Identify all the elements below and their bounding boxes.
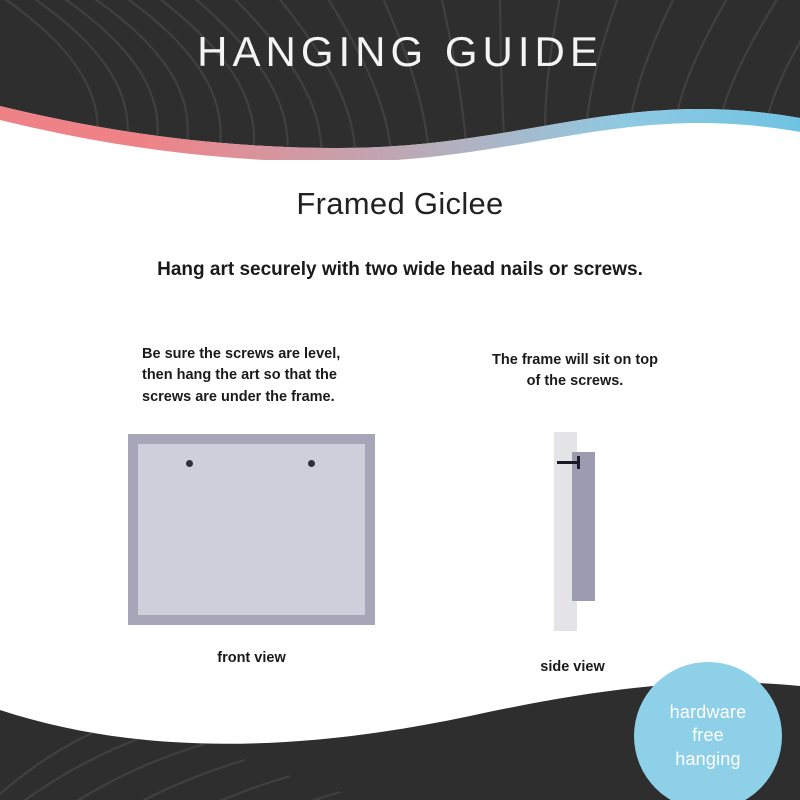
- instruction-subtitle: Hang art securely with two wide head nai…: [0, 259, 800, 281]
- side-view-frame: [572, 452, 595, 601]
- side-caption-line-1: The frame will sit on top: [450, 350, 700, 371]
- front-caption-line-3: screws are under the frame.: [142, 387, 388, 408]
- front-view-mat: [138, 444, 365, 615]
- front-view-column: Be sure the screws are level, then hang …: [120, 344, 388, 408]
- front-view-caption: Be sure the screws are level, then hang …: [120, 344, 388, 408]
- side-view-column: The frame will sit on top of the screws.: [450, 350, 700, 393]
- front-caption-line-1: Be sure the screws are level,: [142, 344, 388, 365]
- page-title: HANGING GUIDE: [0, 28, 800, 76]
- header-background-graphic: [0, 0, 800, 160]
- front-view-label: front view: [128, 650, 375, 666]
- front-view-frame-diagram: [128, 434, 375, 625]
- badge-line-3: hanging: [675, 748, 740, 771]
- hardware-free-hanging-badge: hardware free hanging: [634, 662, 782, 800]
- product-title: Framed Giclee: [0, 186, 800, 222]
- screw-dot-left-icon: [186, 460, 193, 467]
- badge-line-1: hardware: [670, 701, 747, 724]
- side-view-caption: The frame will sit on top of the screws.: [450, 350, 700, 393]
- screw-dot-right-icon: [308, 460, 315, 467]
- screw-head-icon: [577, 456, 580, 469]
- header-banner: HANGING GUIDE: [0, 0, 800, 160]
- badge-line-2: free: [692, 724, 724, 747]
- front-caption-line-2: then hang the art so that the: [142, 365, 388, 386]
- hanging-guide-page: HANGING GUIDE Framed Giclee Hang art sec…: [0, 0, 800, 800]
- side-caption-line-2: of the screws.: [450, 371, 700, 392]
